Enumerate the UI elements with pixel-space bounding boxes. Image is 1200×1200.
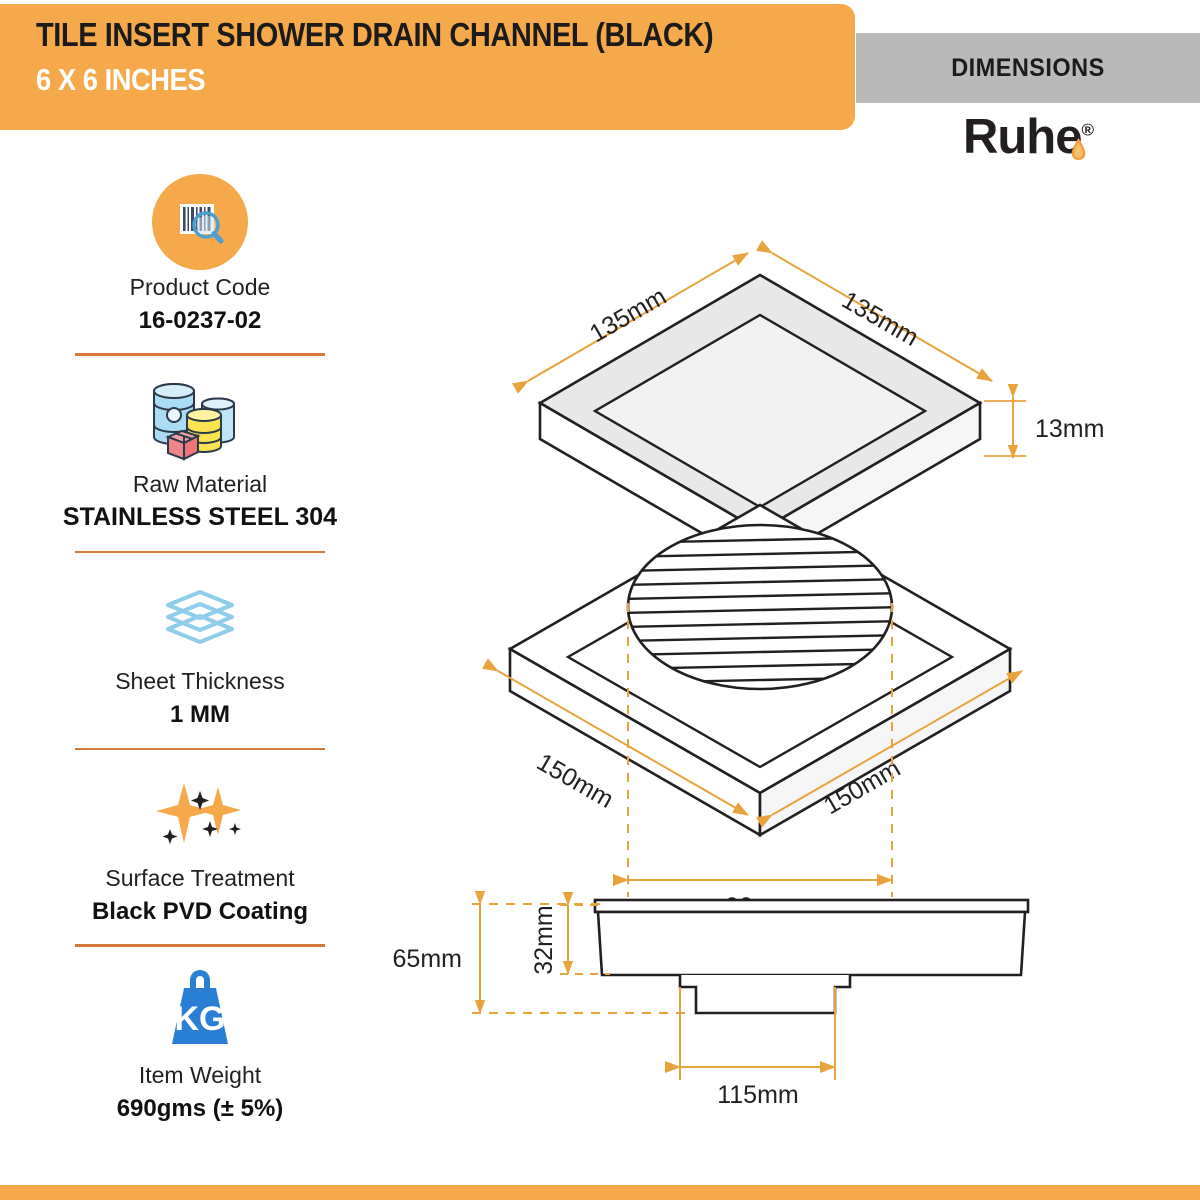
divider — [75, 748, 325, 751]
divider — [75, 353, 325, 356]
spec-icon-wrap — [52, 767, 348, 859]
sheet-stack-icon — [148, 581, 252, 651]
brand-name-text: Ruhe — [963, 110, 1082, 164]
dim-label-body-height: 32mm — [530, 905, 558, 974]
dimensions-label: DIMENSIONS — [866, 33, 1189, 103]
spec-value: 1 MM — [52, 699, 348, 730]
divider — [75, 551, 325, 554]
weight-kg-icon: KG — [150, 960, 250, 1060]
raw-material-drums-icon — [140, 375, 260, 463]
dim-label-body-left: 150mm — [532, 748, 618, 814]
technical-drawing: 135mm 135mm 13mm — [380, 175, 1200, 1135]
spec-sheet-thickness: Sheet Thickness 1 MM — [52, 570, 348, 730]
spec-value: 16-0237-02 — [52, 305, 348, 336]
spec-item-weight: KG Item Weight 690gms (± 5%) — [52, 964, 348, 1124]
weight-unit-text: KG — [175, 1000, 226, 1038]
brand-logo: Ruhe® — [856, 106, 1200, 168]
side-elevation: 65mm 32mm 115mm — [393, 900, 1028, 1109]
brand-wordmark: Ruhe® — [963, 109, 1093, 165]
drawing-canvas: 135mm 135mm 13mm — [380, 175, 1200, 1135]
spec-label: Surface Treatment — [52, 864, 348, 894]
spec-value: Black PVD Coating — [52, 896, 348, 927]
spec-surface-treatment: Surface Treatment Black PVD Coating — [52, 767, 348, 927]
divider — [75, 944, 325, 947]
drain-body: 150mm 150mm 90mm — [498, 505, 1022, 921]
spec-icon-wrap — [52, 570, 348, 662]
spec-label: Sheet Thickness — [52, 667, 348, 697]
product-size: 6 X 6 INCHES — [36, 59, 757, 101]
spec-icon-wrap — [52, 176, 348, 268]
spec-label: Raw Material — [52, 470, 348, 500]
spec-value: 690gms (± 5%) — [52, 1093, 348, 1124]
spec-icon-wrap: KG — [52, 964, 348, 1056]
spec-value: STAINLESS STEEL 304 — [52, 501, 348, 534]
dim-label-total-height: 65mm — [393, 945, 462, 973]
dimensions-bar: DIMENSIONS — [856, 33, 1200, 103]
dim-label-tray-height: 13mm — [1035, 415, 1104, 443]
page-header: TILE INSERT SHOWER DRAIN CHANNEL (BLACK)… — [0, 0, 1200, 180]
spec-label: Item Weight — [52, 1061, 348, 1091]
spec-raw-material: Raw Material STAINLESS STEEL 304 — [52, 373, 348, 534]
title-banner: TILE INSERT SHOWER DRAIN CHANNEL (BLACK)… — [0, 4, 855, 130]
spec-label: Product Code — [52, 273, 348, 303]
barcode-scanner-icon — [152, 174, 248, 270]
spec-product-code: Product Code 16-0237-02 — [52, 176, 348, 336]
spec-icon-wrap — [52, 373, 348, 465]
specifications-sidebar: Product Code 16-0237-02 — [52, 176, 348, 1124]
water-drop-icon — [1070, 137, 1087, 161]
tile-insert-tray: 135mm 135mm 13mm — [528, 253, 1104, 567]
sparkle-icon — [140, 777, 260, 849]
product-title: TILE INSERT SHOWER DRAIN CHANNEL (BLACK) — [36, 14, 757, 55]
dim-label-outlet-width: 115mm — [717, 1081, 799, 1109]
footer-accent-bar — [0, 1185, 1200, 1200]
